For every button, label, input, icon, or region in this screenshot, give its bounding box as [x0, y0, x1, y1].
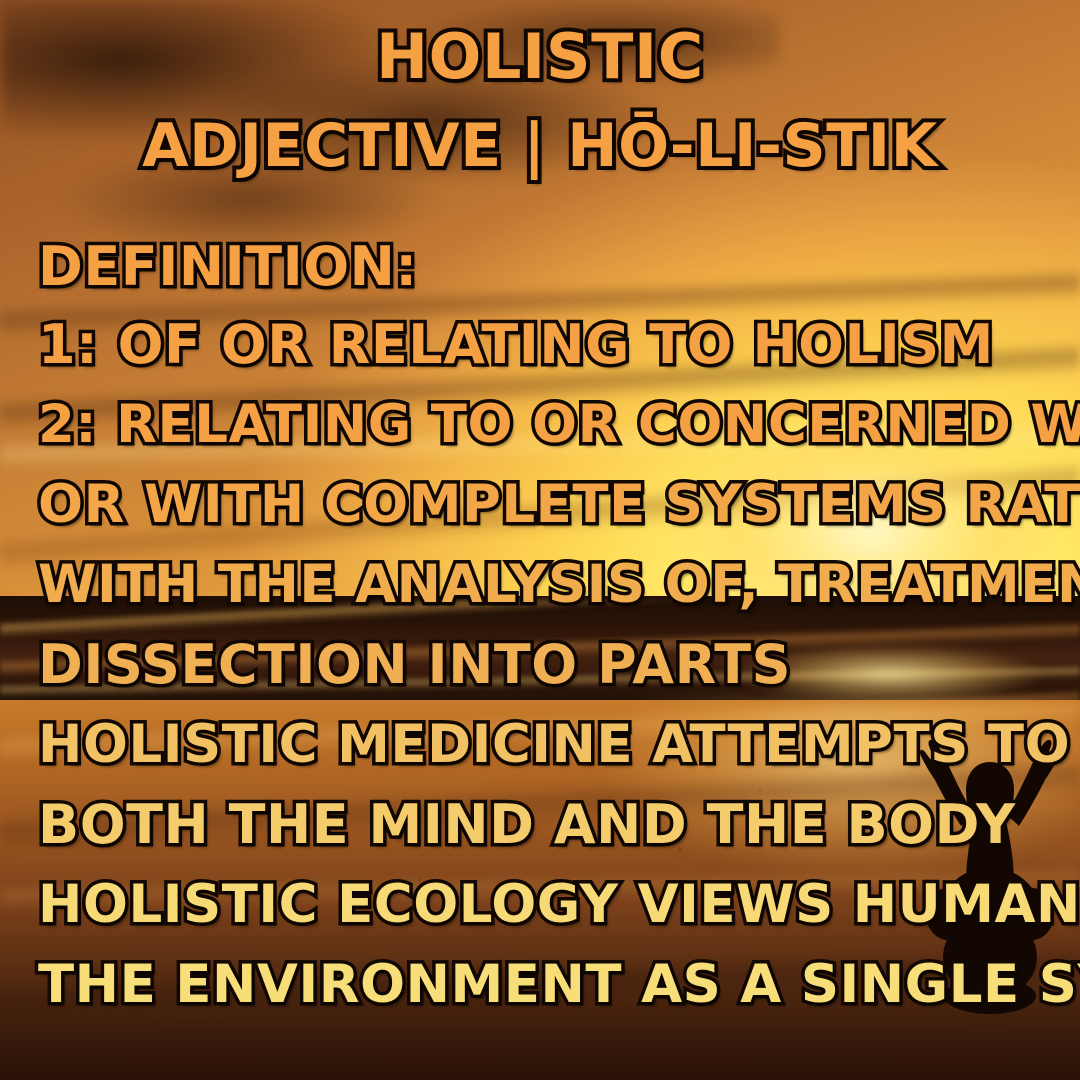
example-2-line-2: THE ENVIRONMENT AS A SINGLE SYSTEM: [38, 958, 1080, 1011]
meme-image: HOLISTIC ADJECTIVE | HŌ-LI-STIK DEFINITI…: [0, 0, 1080, 1080]
definition-sense-2-line-4: DISSECTION INTO PARTS: [38, 638, 791, 692]
text-overlay: HOLISTIC ADJECTIVE | HŌ-LI-STIK DEFINITI…: [0, 0, 1080, 1080]
definition-sense-2-line-1: 2: RELATING TO OR CONCERNED WITH WHOLNES…: [38, 398, 1080, 451]
example-1-line-2: BOTH THE MIND AND THE BODY: [38, 798, 1016, 852]
definition-sense-2-line-2: OR WITH COMPLETE SYSTEMS RATHER THAN: [38, 478, 1080, 531]
definition-sense-1: 1: OF OR RELATING TO HOLISM: [38, 318, 994, 372]
example-1-line-1: HOLISTIC MEDICINE ATTEMPTS TO TREAT: [38, 718, 1080, 771]
headword: HOLISTIC: [0, 26, 1080, 88]
part-of-speech-pronunciation: ADJECTIVE | HŌ-LI-STIK: [0, 116, 1080, 176]
example-2-line-1: HOLISTIC ECOLOGY VIEWS HUMANS AND: [38, 878, 1080, 931]
definition-label: DEFINITION:: [38, 240, 418, 294]
definition-sense-2-line-3: WITH THE ANALYSIS OF, TREATMENT OF, OR: [38, 558, 1080, 611]
